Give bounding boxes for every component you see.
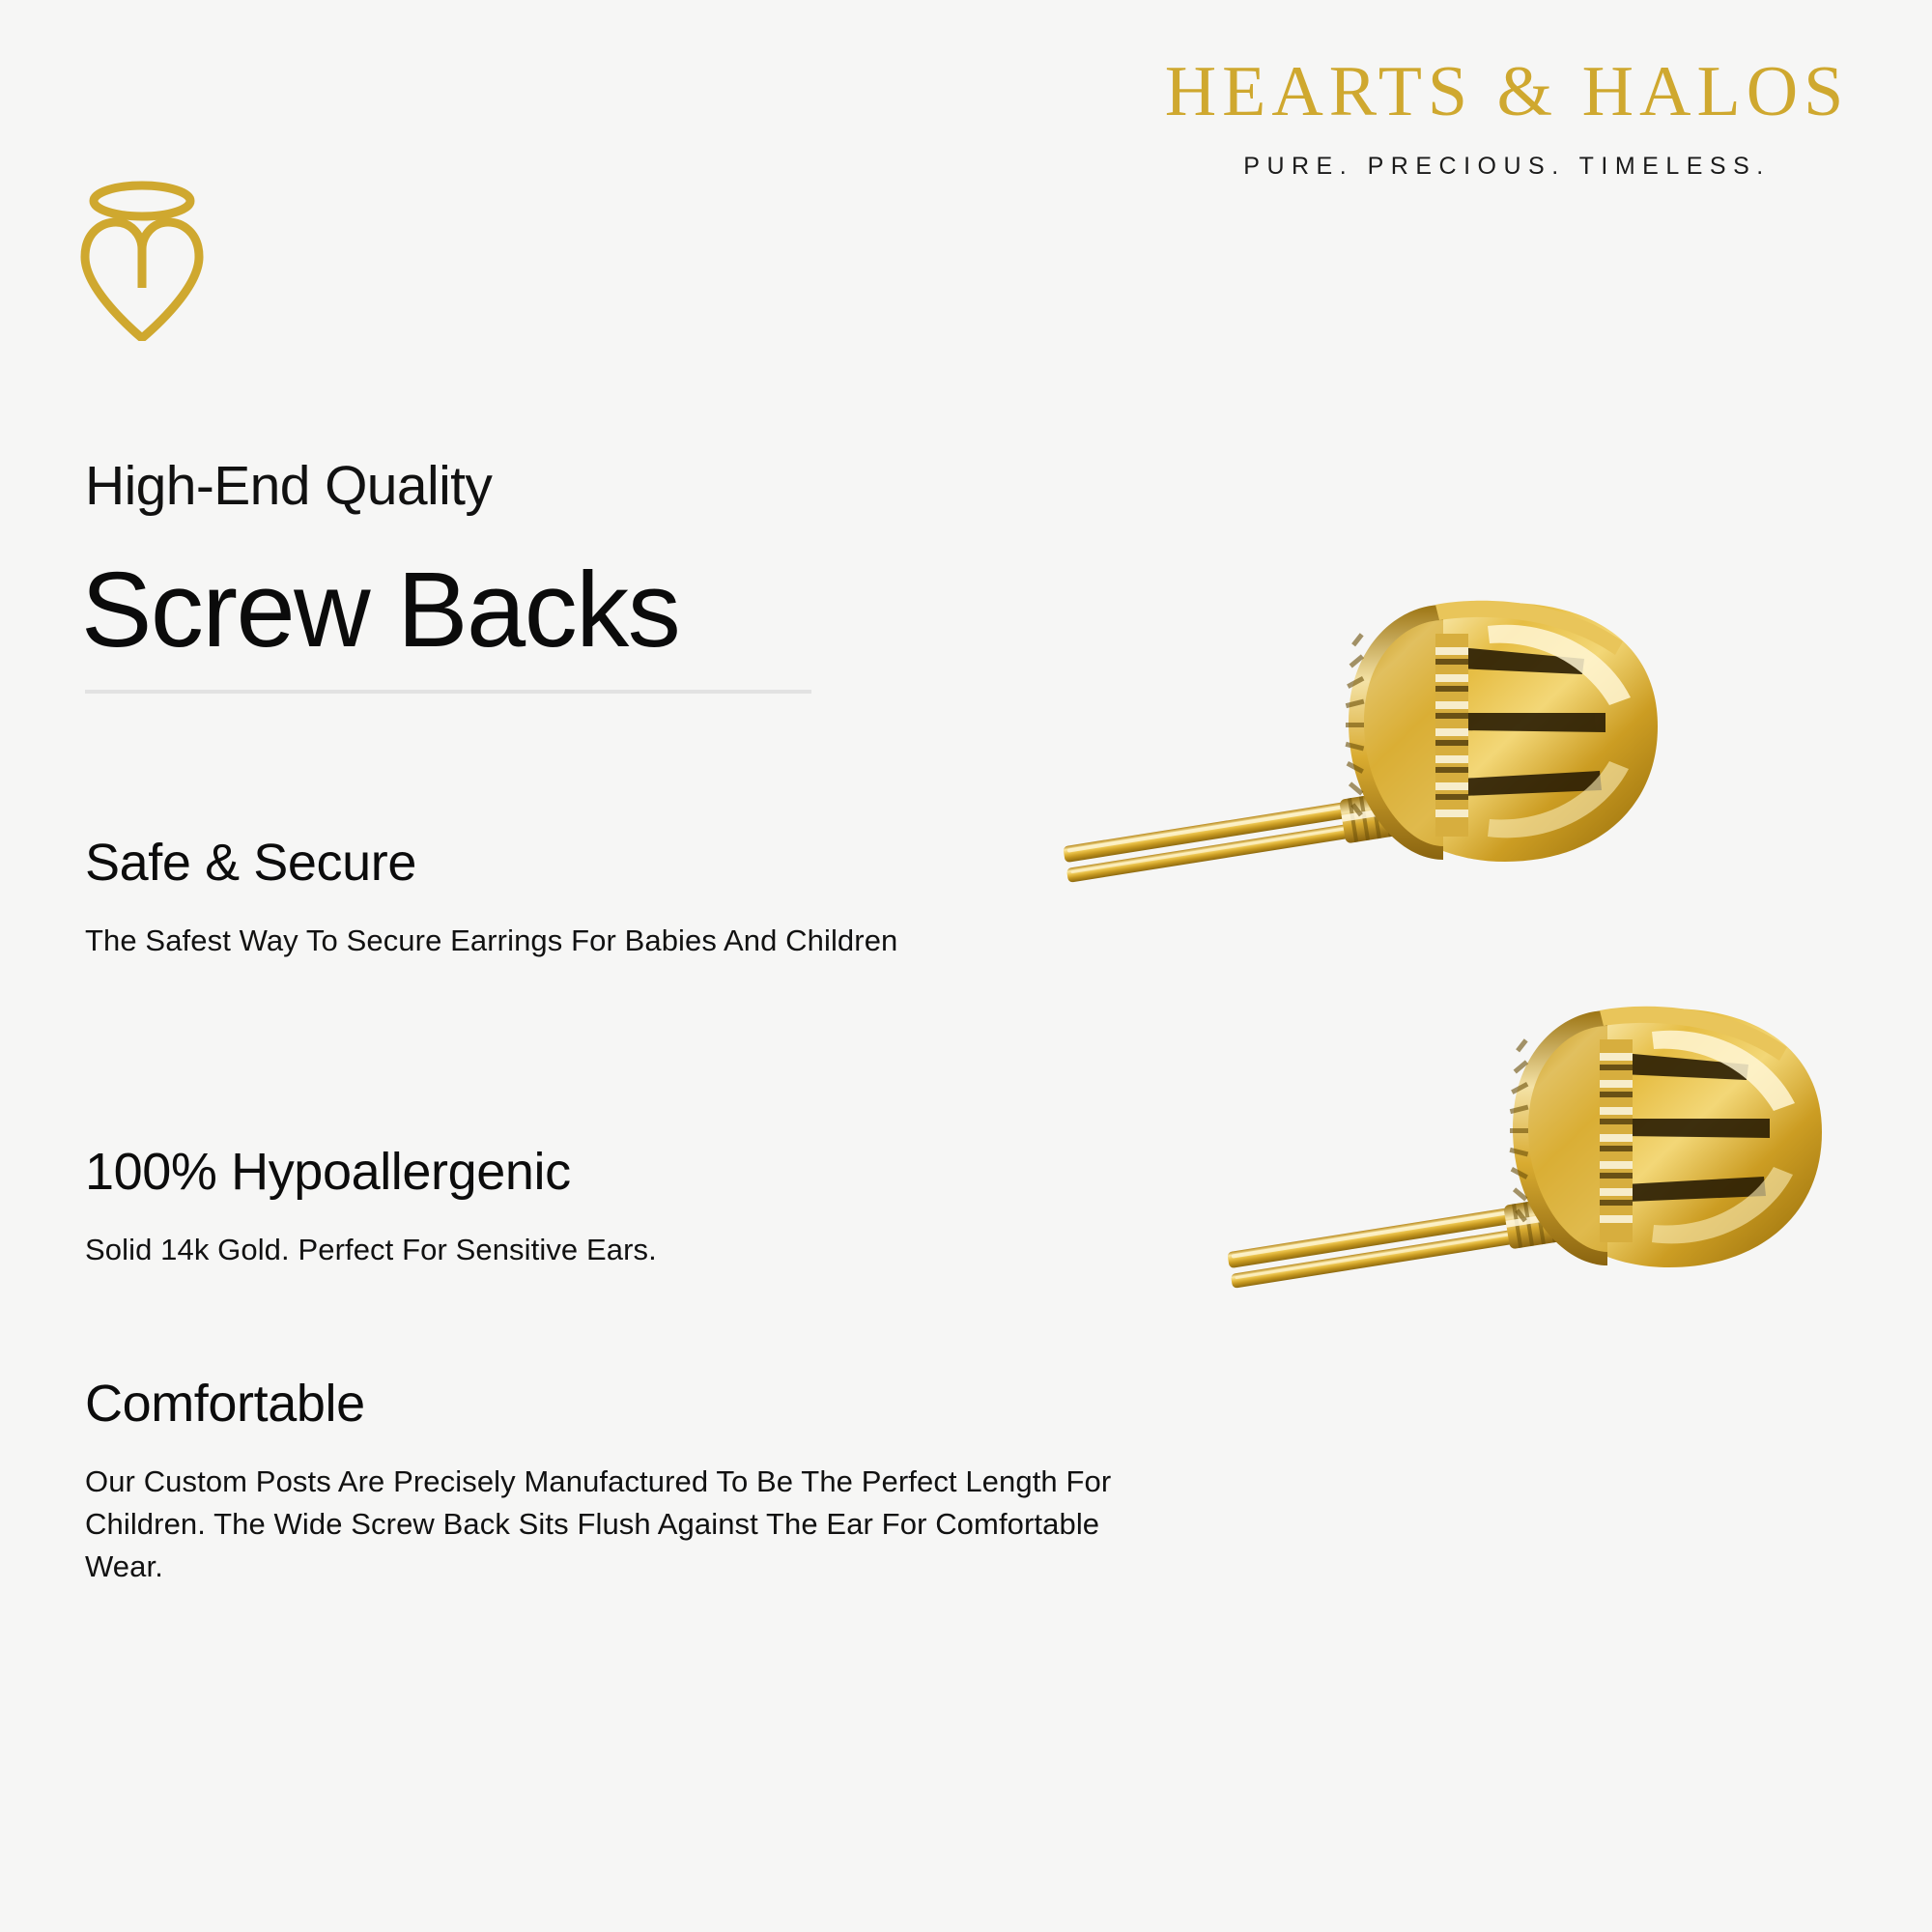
feature-body: Our Custom Posts Are Precisely Manufactu… [85,1461,1167,1588]
feature-body: The Safest Way To Secure Earrings For Ba… [85,920,1032,962]
brand-tagline: PURE. PRECIOUS. TIMELESS. [1140,153,1874,181]
feature-body: Solid 14k Gold. Perfect For Sensitive Ea… [85,1229,1032,1271]
feature-block-hypoallergenic: 100% Hypoallergenic Solid 14k Gold. Perf… [85,1142,1032,1271]
heart-with-halo-icon [77,172,208,341]
screw-back-earring-lower [1217,1005,1835,1410]
feature-block-safe-secure: Safe & Secure The Safest Way To Secure E… [85,833,1032,962]
feature-title: Comfortable [85,1374,1167,1434]
brand-name: HEARTS & HALOS [1140,56,1874,128]
title-underline-divider [85,690,811,694]
brand-logo: HEARTS & HALOS PURE. PRECIOUS. TIMELESS. [1140,56,1874,181]
screw-back-earring-upper [1053,599,1671,1005]
product-infographic: HEARTS & HALOS PURE. PRECIOUS. TIMELESS.… [0,0,1932,1932]
feature-block-comfortable: Comfortable Our Custom Posts Are Precise… [85,1374,1167,1588]
page-title: Screw Backs [81,551,679,669]
eyebrow-heading: High-End Quality [85,454,492,518]
feature-title: Safe & Secure [85,833,1032,893]
gold-screw-back-earrings-image [1043,599,1893,1430]
feature-title: 100% Hypoallergenic [85,1142,1032,1202]
